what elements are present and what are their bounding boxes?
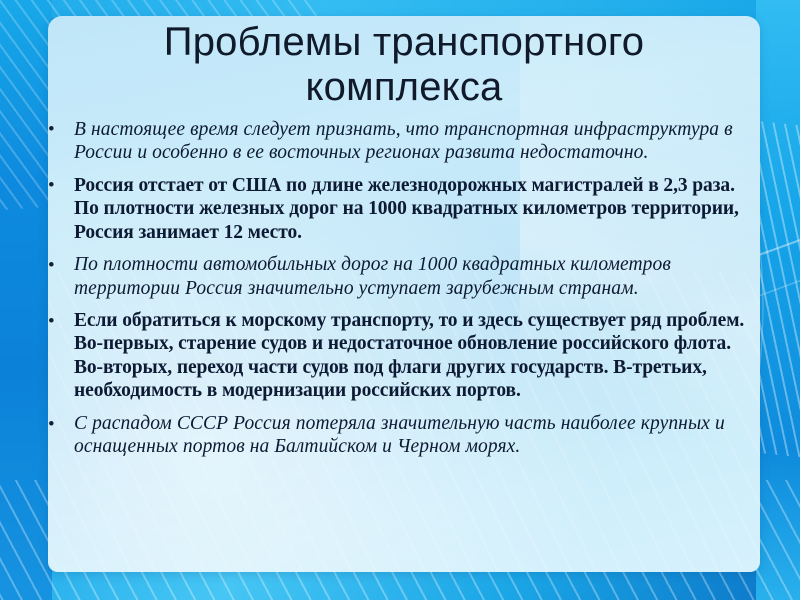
bullet-text: Россия отстает от США по длине железнодо… (74, 174, 746, 244)
bullet-text: В настоящее время следует признать, что … (74, 118, 746, 165)
presentation-slide: Проблемы транспортного комплекса • В нас… (0, 0, 800, 600)
title-line-2: комплекса (306, 65, 503, 109)
bullet-text: С распадом СССР Россия потеряла значител… (74, 412, 746, 459)
bullet-marker-icon: • (48, 255, 55, 278)
list-item: • Если обратиться к морскому транспорту,… (48, 309, 746, 403)
bullet-list: • В настоящее время следует признать, чт… (48, 118, 760, 459)
bullet-marker-icon: • (48, 175, 55, 198)
title-line-1: Проблемы транспортного (164, 20, 645, 64)
right-border-strip (756, 0, 800, 600)
content-panel: Проблемы транспортного комплекса • В нас… (48, 16, 760, 572)
list-item: • В настоящее время следует признать, чт… (48, 118, 746, 165)
bullet-marker-icon: • (48, 311, 55, 334)
list-item: • По плотности автомобильных дорог на 10… (48, 253, 746, 300)
list-item: • Россия отстает от США по длине железно… (48, 174, 746, 244)
bullet-text: По плотности автомобильных дорог на 1000… (74, 253, 746, 300)
page-title: Проблемы транспортного комплекса (66, 20, 742, 110)
bullet-marker-icon: • (48, 119, 55, 142)
list-item: • С распадом СССР Россия потеряла значит… (48, 412, 746, 459)
left-border-strip (0, 0, 52, 600)
bullet-marker-icon: • (48, 414, 55, 437)
bullet-text: Если обратиться к морскому транспорту, т… (74, 309, 746, 403)
